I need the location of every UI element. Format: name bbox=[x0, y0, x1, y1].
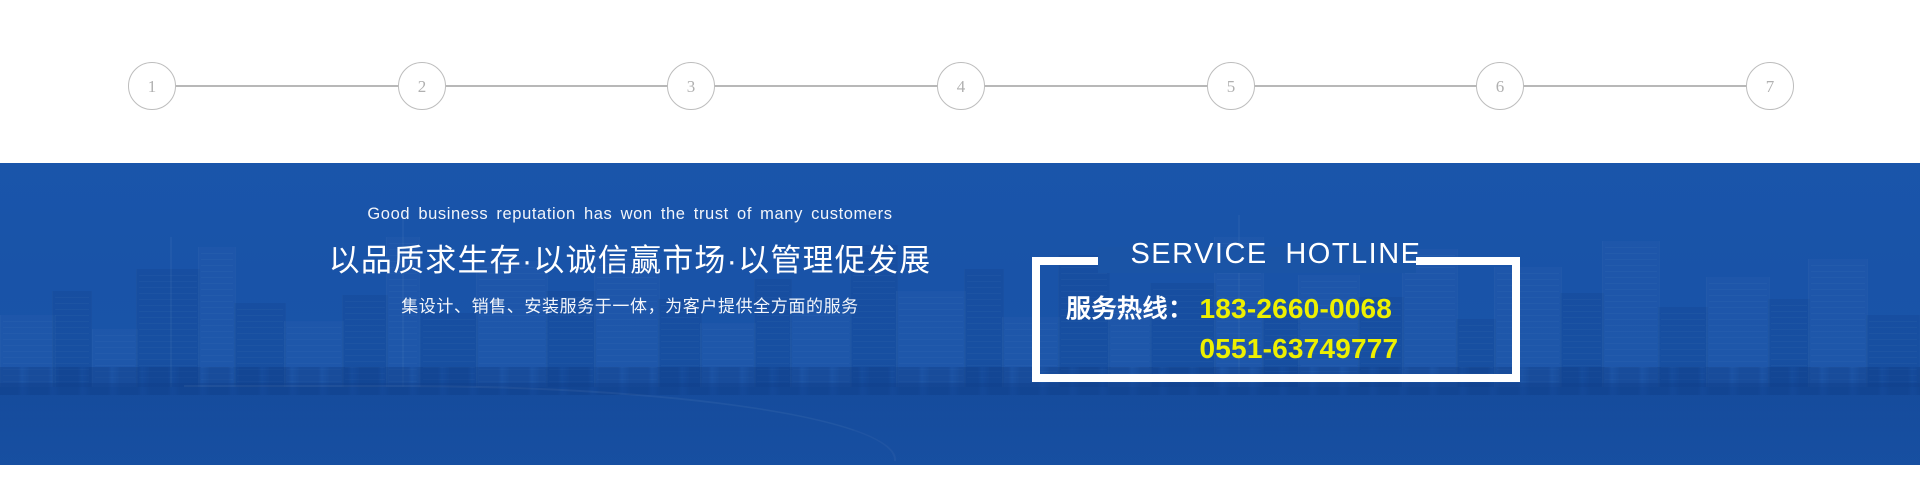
hotline-number-list: 183-2660-0068 0551-63749777 bbox=[1200, 289, 1399, 369]
step-label-5: 5 bbox=[1227, 78, 1236, 95]
step-label-4: 4 bbox=[957, 78, 966, 95]
hotline-number-primary[interactable]: 183-2660-0068 bbox=[1200, 289, 1399, 329]
slogan-subtitle: 集设计、销售、安装服务于一体，为客户提供全方面的服务 bbox=[300, 296, 960, 318]
step-node-3[interactable]: 3 bbox=[667, 62, 715, 110]
page-root: 1 2 3 4 5 6 7 bbox=[0, 0, 1920, 500]
step-node-6[interactable]: 6 bbox=[1476, 62, 1524, 110]
step-node-5[interactable]: 5 bbox=[1207, 62, 1255, 110]
hotline-label: 服务热线： bbox=[1066, 289, 1194, 329]
stepper-band: 1 2 3 4 5 6 7 bbox=[0, 0, 1920, 163]
step-node-4[interactable]: 4 bbox=[937, 62, 985, 110]
step-node-7[interactable]: 7 bbox=[1746, 62, 1794, 110]
step-label-6: 6 bbox=[1496, 78, 1505, 95]
service-hotline-box: SERVICE HOTLINE 服务热线： 183-2660-0068 0551… bbox=[1032, 257, 1520, 382]
road-curve bbox=[176, 385, 904, 461]
hotline-number-secondary[interactable]: 0551-63749777 bbox=[1200, 329, 1399, 369]
step-node-2[interactable]: 2 bbox=[398, 62, 446, 110]
ground-area bbox=[0, 383, 1920, 465]
hotline-title: SERVICE HOTLINE bbox=[1032, 237, 1520, 272]
step-label-2: 2 bbox=[418, 78, 427, 95]
step-node-1[interactable]: 1 bbox=[128, 62, 176, 110]
promo-banner: Good business reputation has won the tru… bbox=[0, 163, 1920, 465]
slogan-block: Good business reputation has won the tru… bbox=[300, 205, 960, 318]
step-label-3: 3 bbox=[687, 78, 696, 95]
city-skyline-silhouette bbox=[0, 202, 1920, 387]
slogan-english: Good business reputation has won the tru… bbox=[300, 205, 960, 225]
slogan-headline: 以品质求生存·以诚信赢市场·以管理促发展 bbox=[300, 242, 960, 281]
step-label-1: 1 bbox=[148, 78, 157, 95]
step-label-7: 7 bbox=[1766, 78, 1775, 95]
hotline-body: 服务热线： 183-2660-0068 0551-63749777 bbox=[1032, 289, 1520, 369]
